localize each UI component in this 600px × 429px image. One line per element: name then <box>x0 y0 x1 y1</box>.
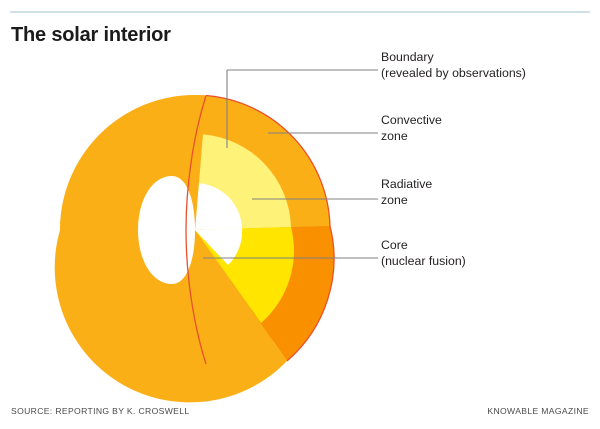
label-core-line1: Core <box>381 238 408 252</box>
publisher-credit: KNOWABLE MAGAZINE <box>487 406 589 416</box>
label-boundary-line1: Boundary <box>381 50 434 64</box>
source-credit: SOURCE: REPORTING BY K. CROSWELL <box>11 406 190 416</box>
label-boundary-line2: (revealed by observations) <box>381 66 526 82</box>
label-convective-zone: Convective zone <box>381 113 442 144</box>
label-radiative-line2: zone <box>381 193 432 209</box>
label-radiative-zone: Radiative zone <box>381 177 432 208</box>
figure-page: The solar interior <box>0 0 600 429</box>
label-boundary: Boundary (revealed by observations) <box>381 50 526 81</box>
label-core-line2: (nuclear fusion) <box>381 254 466 270</box>
label-convective-line1: Convective <box>381 113 442 127</box>
label-radiative-line1: Radiative <box>381 177 432 191</box>
label-core: Core (nuclear fusion) <box>381 238 466 269</box>
label-convective-line2: zone <box>381 129 442 145</box>
